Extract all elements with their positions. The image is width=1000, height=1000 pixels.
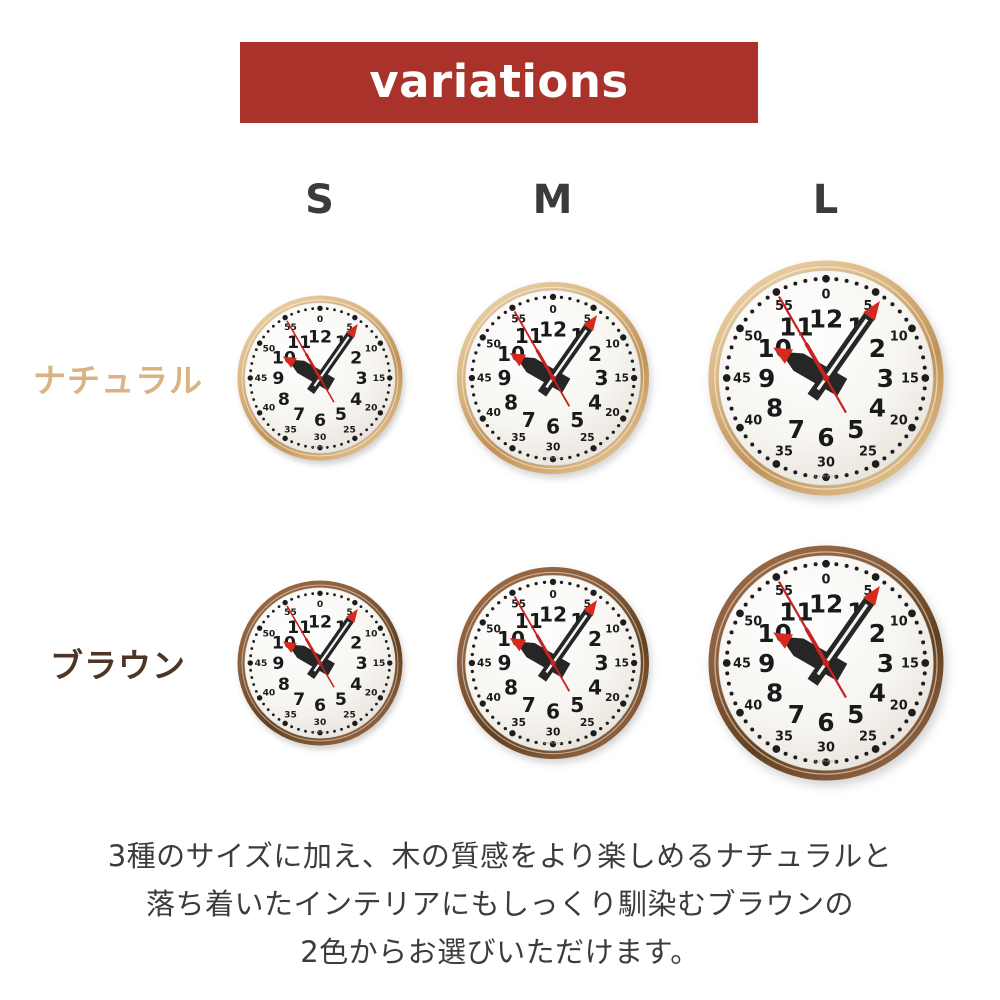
svg-text:4: 4 [588,675,602,699]
svg-text:25: 25 [859,444,877,459]
svg-text:Lemnos: Lemnos [544,741,562,745]
svg-text:15: 15 [373,659,386,669]
svg-text:20: 20 [890,414,908,429]
caption-block: 3種のサイズに加え、木の質感をより楽しめるナチュラルと 落ち着いたインテリアにも… [0,832,1000,976]
svg-text:12: 12 [308,327,332,347]
svg-text:45: 45 [255,659,268,669]
svg-text:10: 10 [365,345,378,355]
svg-text:25: 25 [343,710,356,720]
svg-text:35: 35 [775,729,793,744]
svg-text:5: 5 [847,415,864,444]
svg-text:12: 12 [539,603,567,627]
svg-text:8: 8 [766,678,783,707]
svg-text:3: 3 [594,651,608,675]
svg-text:35: 35 [511,432,526,444]
svg-text:6: 6 [546,415,560,439]
svg-text:9: 9 [758,364,775,393]
svg-text:20: 20 [890,699,908,714]
svg-text:8: 8 [278,675,290,695]
svg-text:Lemnos: Lemnos [815,473,837,478]
size-label-s: S [305,177,335,223]
svg-text:12: 12 [539,318,567,342]
clock-natural-m[interactable]: 0510152025303540455055123456789101112Lem… [445,270,661,486]
svg-text:0: 0 [822,573,831,588]
svg-text:40: 40 [486,692,501,704]
svg-text:20: 20 [365,689,378,699]
svg-text:2: 2 [350,633,362,653]
svg-text:30: 30 [546,441,561,453]
svg-text:6: 6 [817,423,834,452]
svg-text:40: 40 [486,407,501,419]
row-label-natural: ナチュラル [33,354,203,402]
svg-text:15: 15 [901,372,919,387]
variations-page: variations S M L ナチュラル ブラウン 051015202530… [0,0,1000,1000]
svg-text:7: 7 [522,408,536,432]
svg-text:0: 0 [822,288,831,303]
svg-text:4: 4 [588,390,602,414]
svg-text:45: 45 [477,658,492,670]
svg-text:2: 2 [869,334,886,363]
svg-text:20: 20 [365,404,378,414]
svg-text:30: 30 [546,726,561,738]
caption-line-3: 2色からお選びいただけます。 [0,928,1000,976]
caption-line-1: 3種のサイズに加え、木の質感をより楽しめるナチュラルと [0,832,1000,880]
svg-text:9: 9 [497,651,511,675]
svg-text:7: 7 [293,690,305,710]
svg-text:40: 40 [263,689,276,699]
svg-text:35: 35 [511,717,526,729]
variations-banner: variations [240,42,758,123]
size-label-m: M [533,177,574,223]
svg-text:30: 30 [817,456,835,471]
svg-text:Lemnos: Lemnos [312,730,328,734]
svg-text:Lemnos: Lemnos [312,445,328,449]
svg-text:35: 35 [284,425,297,435]
svg-text:10: 10 [890,615,908,630]
svg-text:15: 15 [901,657,919,672]
clock-brown-s[interactable]: 0510152025303540455055123456789101112Lem… [228,571,413,756]
svg-text:45: 45 [733,372,751,387]
svg-text:40: 40 [744,699,762,714]
svg-text:Lemnos: Lemnos [815,758,837,763]
clock-brown-l[interactable]: 0510152025303540455055123456789101112Lem… [695,532,958,795]
svg-text:30: 30 [314,718,327,728]
svg-text:10: 10 [605,338,620,350]
svg-text:7: 7 [522,693,536,717]
svg-text:5: 5 [335,690,347,710]
svg-text:30: 30 [817,741,835,756]
svg-text:8: 8 [766,393,783,422]
svg-text:7: 7 [293,405,305,425]
svg-text:35: 35 [775,444,793,459]
svg-text:15: 15 [373,374,386,384]
svg-text:9: 9 [272,369,284,389]
svg-text:6: 6 [546,700,560,724]
svg-text:0: 0 [317,315,323,325]
svg-text:4: 4 [350,675,362,695]
svg-text:9: 9 [272,654,284,674]
caption-line-2: 落ち着いたインテリアにもしっくり馴染むブラウンの [0,880,1000,928]
svg-text:4: 4 [869,393,886,422]
svg-text:25: 25 [343,425,356,435]
svg-text:9: 9 [758,649,775,678]
page-title: variations [369,59,628,104]
clock-natural-l[interactable]: 0510152025303540455055123456789101112Lem… [695,247,958,510]
svg-text:3: 3 [877,649,894,678]
svg-text:3: 3 [356,654,368,674]
svg-text:2: 2 [350,348,362,368]
svg-text:25: 25 [859,729,877,744]
svg-text:0: 0 [549,304,556,316]
svg-text:5: 5 [570,693,584,717]
svg-text:5: 5 [847,700,864,729]
svg-text:12: 12 [809,304,843,333]
svg-text:Lemnos: Lemnos [544,456,562,460]
svg-text:15: 15 [614,658,629,670]
clock-brown-m[interactable]: 0510152025303540455055123456789101112Lem… [445,555,661,771]
svg-text:4: 4 [350,390,362,410]
svg-text:45: 45 [477,373,492,385]
svg-text:15: 15 [614,373,629,385]
svg-text:10: 10 [365,630,378,640]
svg-text:8: 8 [504,390,518,414]
svg-text:12: 12 [308,612,332,632]
svg-text:40: 40 [263,404,276,414]
svg-text:20: 20 [605,692,620,704]
svg-text:12: 12 [809,589,843,618]
svg-text:20: 20 [605,407,620,419]
svg-text:0: 0 [549,589,556,601]
svg-text:6: 6 [314,696,326,716]
svg-text:9: 9 [497,366,511,390]
svg-text:3: 3 [356,369,368,389]
svg-text:45: 45 [255,374,268,384]
svg-text:30: 30 [314,433,327,443]
svg-text:40: 40 [744,414,762,429]
svg-text:10: 10 [890,330,908,345]
svg-text:2: 2 [588,342,602,366]
svg-text:6: 6 [817,708,834,737]
row-label-brown: ブラウン [50,639,186,687]
svg-text:5: 5 [570,408,584,432]
svg-text:5: 5 [335,405,347,425]
svg-text:7: 7 [788,415,805,444]
svg-text:2: 2 [588,627,602,651]
svg-text:6: 6 [314,411,326,431]
svg-text:2: 2 [869,619,886,648]
svg-text:3: 3 [594,366,608,390]
svg-text:4: 4 [869,678,886,707]
svg-text:25: 25 [580,432,595,444]
svg-text:8: 8 [504,675,518,699]
svg-text:0: 0 [317,600,323,610]
size-label-l: L [813,177,840,223]
svg-text:45: 45 [733,657,751,672]
svg-text:10: 10 [605,623,620,635]
svg-text:25: 25 [580,717,595,729]
svg-text:3: 3 [877,364,894,393]
clock-natural-s[interactable]: 0510152025303540455055123456789101112Lem… [228,286,413,471]
svg-text:35: 35 [284,710,297,720]
svg-text:7: 7 [788,700,805,729]
svg-text:8: 8 [278,390,290,410]
